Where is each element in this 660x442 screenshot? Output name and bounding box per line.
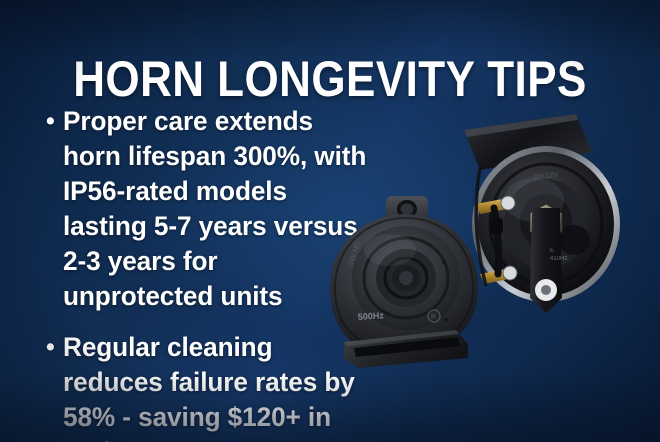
bullet-marker-icon: • xyxy=(46,104,63,139)
page-title: HORN LONGEVITY TIPS xyxy=(40,52,621,106)
svg-text:R: R xyxy=(431,314,436,321)
disc-horn-back-image: DH 12V E 410Hz xyxy=(450,108,630,323)
bullet-marker-icon: • xyxy=(46,330,63,365)
svg-text:E: E xyxy=(550,248,554,254)
bullet-text: Regular cleaning reduces failure rates b… xyxy=(63,330,367,442)
list-item: • Proper care extends horn lifespan 300%… xyxy=(46,104,376,314)
bullet-text: Proper care extends horn lifespan 300%, … xyxy=(63,104,367,314)
svg-text:DH 12V: DH 12V xyxy=(533,172,558,182)
list-item: • Regular cleaning reduces failure rates… xyxy=(46,330,376,442)
slide-canvas: HORN LONGEVITY TIPS • Proper care extend… xyxy=(0,0,660,442)
svg-text:410Hz: 410Hz xyxy=(550,256,567,262)
bullet-list: • Proper care extends horn lifespan 300%… xyxy=(46,104,376,442)
